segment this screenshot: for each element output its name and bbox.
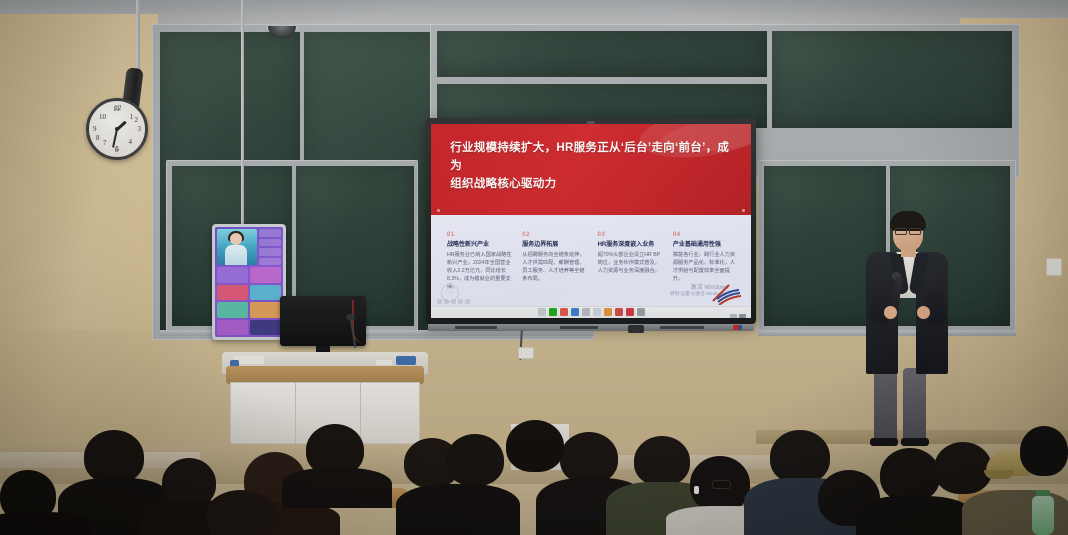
antivirus-icon[interactable] [626, 308, 634, 316]
audience-shoulders [856, 496, 972, 535]
slide-body: 01 战略性新兴产业 HR服务业已纳入国家战略性新兴产业，2024年全国营业收入… [431, 215, 751, 318]
lectern-device-right[interactable] [396, 356, 416, 365]
kiosk-avatar [217, 229, 257, 265]
lectern-seam-2 [360, 382, 361, 444]
column-number: 02 [522, 232, 587, 238]
desk-row-right [600, 455, 780, 469]
browser-icon[interactable] [582, 308, 590, 316]
presenter-leg-right [903, 368, 926, 444]
presenter-hand-right [917, 306, 930, 319]
slide-column-1: 01 战略性新兴产业 HR服务业已纳入国家战略性新兴产业，2024年全国营业收入… [447, 232, 512, 292]
slide-title: 行业规模持续扩大，HR服务正从‘后台’走向‘前台’，成为 组织战略核心驱动力 [450, 140, 735, 193]
audience-head [1020, 426, 1068, 476]
presenter-leg-left [874, 368, 897, 444]
water-bottle [1032, 496, 1054, 535]
wall-clock: 12 3 6 9 1 2 4 5 7 8 10 11 [86, 98, 148, 160]
audience-shoulders [396, 484, 520, 535]
blackboard-panel-3 [437, 31, 767, 77]
slide-header: 行业规模持续扩大，HR服务正从‘后台’走向‘前台’，成为 组织战略核心驱动力 [431, 124, 751, 215]
slide-toolbar-left[interactable] [437, 299, 470, 304]
wall-socket-plate[interactable] [1046, 258, 1062, 276]
earbud-icon [694, 486, 699, 494]
mail-icon[interactable] [615, 308, 623, 316]
slide-column-2: 02 服务边界拓展 从招聘服务向全链条延伸，人才供需匹配、薪酬管理、员工服务、人… [522, 232, 587, 292]
column-number: 03 [598, 232, 663, 238]
monitor-cable [352, 300, 380, 344]
audience-head [770, 430, 830, 484]
slide-title-line2: 组织战略核心驱动力 [450, 176, 735, 194]
touchscreen-kiosk[interactable] [212, 224, 286, 340]
lectern-paper-2 [376, 360, 392, 365]
presenter-shoe-right [901, 438, 929, 446]
lectern-seam-1 [295, 382, 296, 444]
audience-shoulders [282, 468, 392, 508]
slide-column-3: 03 HR服务深度嵌入业务 超70%头部企业设立HR BP岗位，业务伙伴模式普及… [598, 232, 663, 292]
editor-icon[interactable] [593, 308, 601, 316]
presenter-hand-left [884, 306, 897, 319]
column-body: 超70%头部企业设立HR BP岗位，业务伙伴模式普及，人力资源与业务深度融合。 [598, 251, 663, 275]
audience-head [446, 434, 504, 486]
cap-brim [984, 470, 1014, 479]
windows-taskbar[interactable] [431, 306, 751, 318]
display-ports-mid [560, 326, 598, 329]
audience-head [934, 442, 992, 494]
system-tray[interactable] [730, 317, 746, 318]
wall-outlet[interactable] [518, 347, 534, 359]
column-heading: 战略性新兴产业 [447, 241, 512, 249]
pdf-icon[interactable] [604, 308, 612, 316]
kiosk-tile-grid[interactable] [217, 267, 281, 335]
file-explorer-icon[interactable] [538, 308, 546, 316]
floor-junction-box [628, 325, 644, 333]
settings-icon[interactable] [637, 308, 645, 316]
audience-head [634, 436, 690, 486]
wechat-icon[interactable] [549, 308, 557, 316]
slide-screen[interactable]: 行业规模持续扩大，HR服务正从‘后台’走向‘前台’，成为 组织战略核心驱动力 0… [431, 124, 751, 318]
kiosk-menu-list[interactable] [259, 229, 281, 265]
audience-glasses-icon [712, 480, 731, 489]
ceiling-pole [136, 0, 140, 72]
column-number: 04 [673, 232, 738, 238]
audience-head [84, 430, 144, 484]
display-brand-badge [733, 325, 742, 330]
audience-head [880, 448, 940, 502]
slide-title-line1: 行业规模持续扩大，HR服务正从‘后台’走向‘前台’，成为 [450, 140, 735, 176]
column-heading: HR服务深度嵌入业务 [598, 241, 663, 249]
presenter-shoe-left [870, 438, 898, 446]
lecture-hall-photo: 12 3 6 9 1 2 4 5 7 8 10 11 [0, 0, 1068, 535]
column-body: 从招聘服务向全链条延伸，人才供需匹配、薪酬管理、员工服务、人才培养等全链条布局。 [522, 251, 587, 283]
display-ports-left [455, 326, 497, 329]
wall-display[interactable]: 行业规模持续扩大，HR服务正从‘后台’走向‘前台’，成为 组织战略核心驱动力 0… [426, 118, 756, 324]
office-excel-icon[interactable] [571, 308, 579, 316]
audience-head [506, 420, 564, 472]
column-heading: 服务边界拓展 [522, 241, 587, 249]
column-heading: 产业基础通用性强 [673, 241, 738, 249]
blackboard-panel-5 [772, 31, 1012, 128]
gooseneck-mic-head [346, 314, 355, 320]
column-body: HR服务业已纳入国家战略性新兴产业，2024年全国营业收入2.2万亿元，同比增长… [447, 251, 512, 291]
office-word-icon[interactable] [560, 308, 568, 316]
audience-head [206, 490, 276, 535]
presenter-glasses-icon [895, 228, 921, 233]
display-ports-right [660, 326, 704, 329]
clock-pivot [115, 127, 119, 131]
ceiling [0, 0, 1068, 26]
column-number: 01 [447, 232, 512, 238]
audience-shoulders [0, 512, 90, 535]
column-body: 赋能各行业，跨行业人力资源服务产品化、标准化，人才供给与配置效率全面提升。 [673, 251, 738, 283]
audience-head [560, 432, 618, 484]
flag-logo-icon [709, 283, 743, 305]
